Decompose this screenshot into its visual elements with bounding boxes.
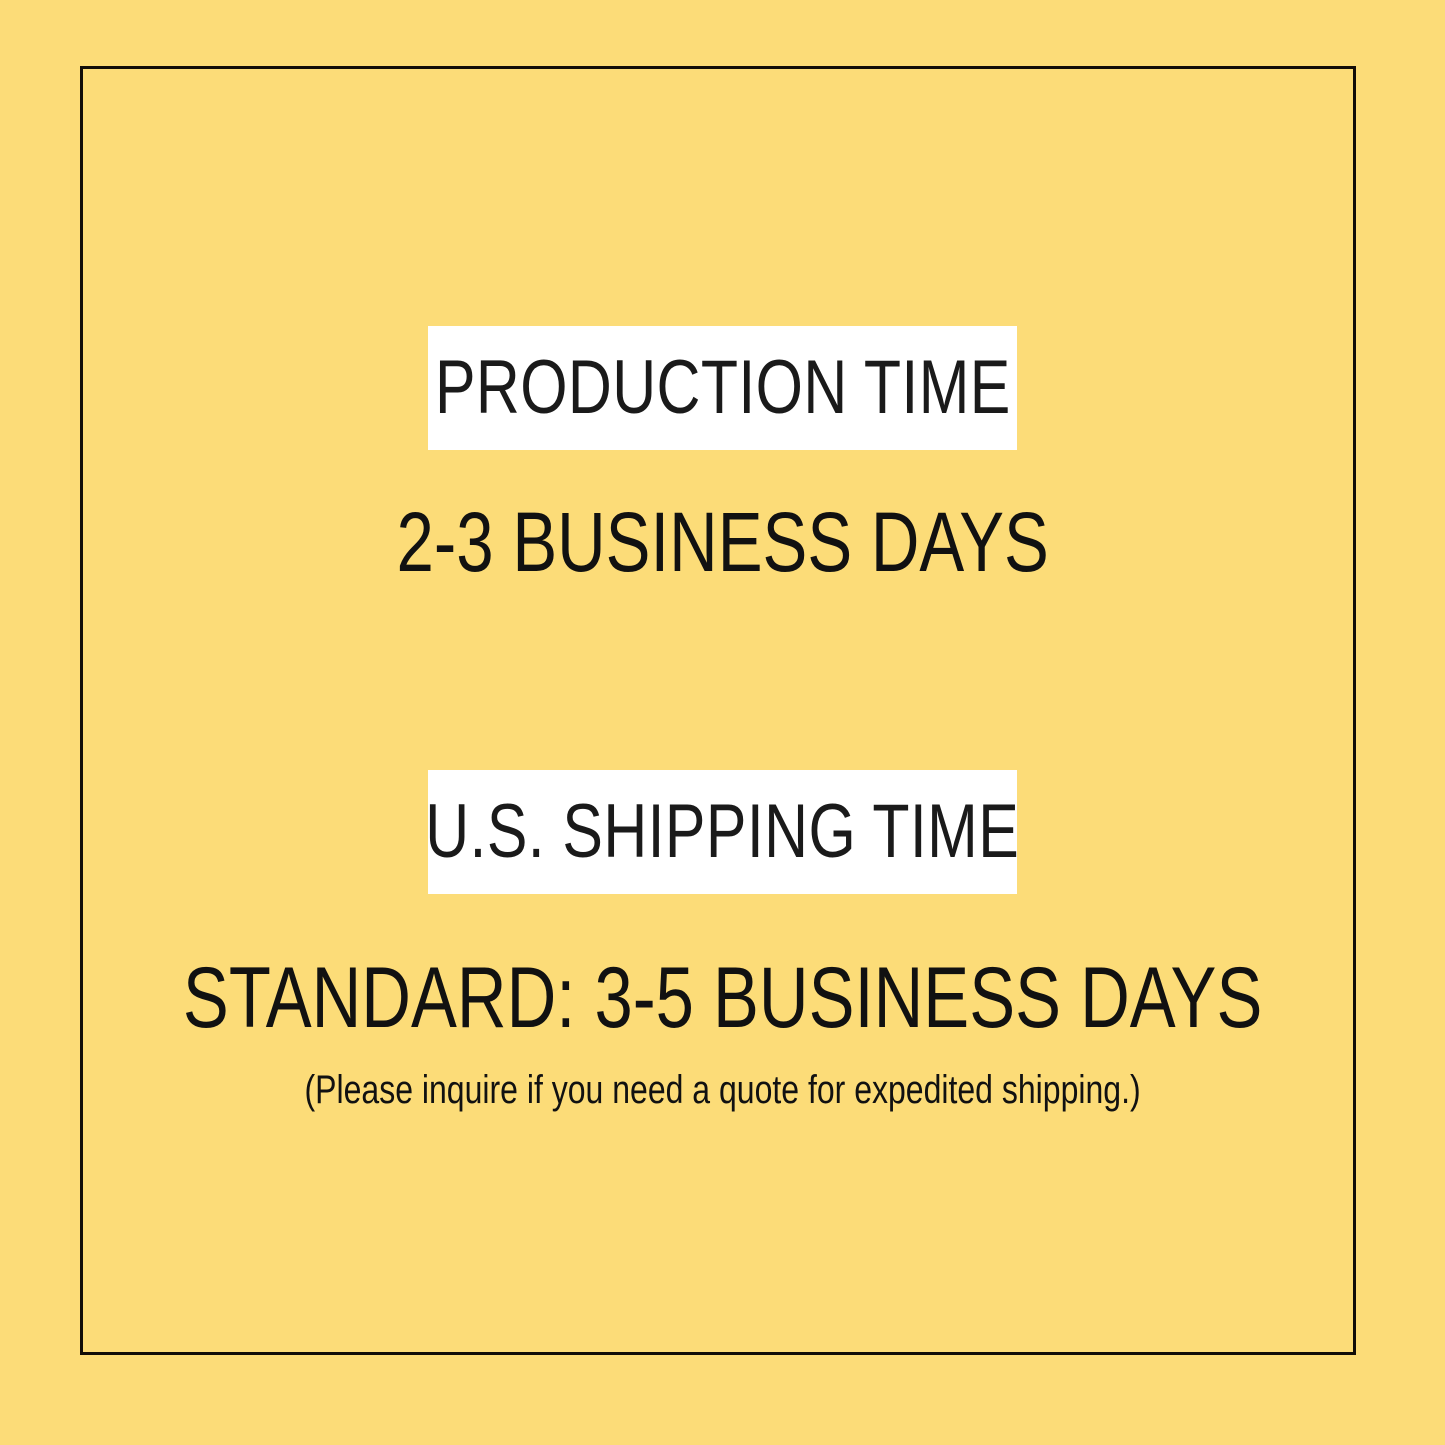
- production-time-heading: PRODUCTION TIME: [435, 350, 1011, 426]
- us-shipping-time-heading-band: U.S. SHIPPING TIME: [428, 770, 1017, 894]
- shipping-info-poster: PRODUCTION TIME 2-3 BUSINESS DAYS U.S. S…: [0, 0, 1445, 1445]
- us-shipping-time-value: STANDARD: 3-5 BUSINESS DAYS: [0, 955, 1445, 1041]
- expedited-shipping-note-text: (Please inquire if you need a quote for …: [304, 1068, 1140, 1112]
- production-time-value: 2-3 BUSINESS DAYS: [0, 500, 1445, 584]
- us-shipping-time-value-text: STANDARD: 3-5 BUSINESS DAYS: [183, 955, 1262, 1041]
- production-time-heading-band: PRODUCTION TIME: [428, 326, 1017, 450]
- poster-content: PRODUCTION TIME 2-3 BUSINESS DAYS U.S. S…: [0, 0, 1445, 1445]
- production-time-value-text: 2-3 BUSINESS DAYS: [396, 500, 1048, 584]
- us-shipping-time-heading: U.S. SHIPPING TIME: [426, 794, 1020, 870]
- expedited-shipping-note: (Please inquire if you need a quote for …: [0, 1068, 1445, 1112]
